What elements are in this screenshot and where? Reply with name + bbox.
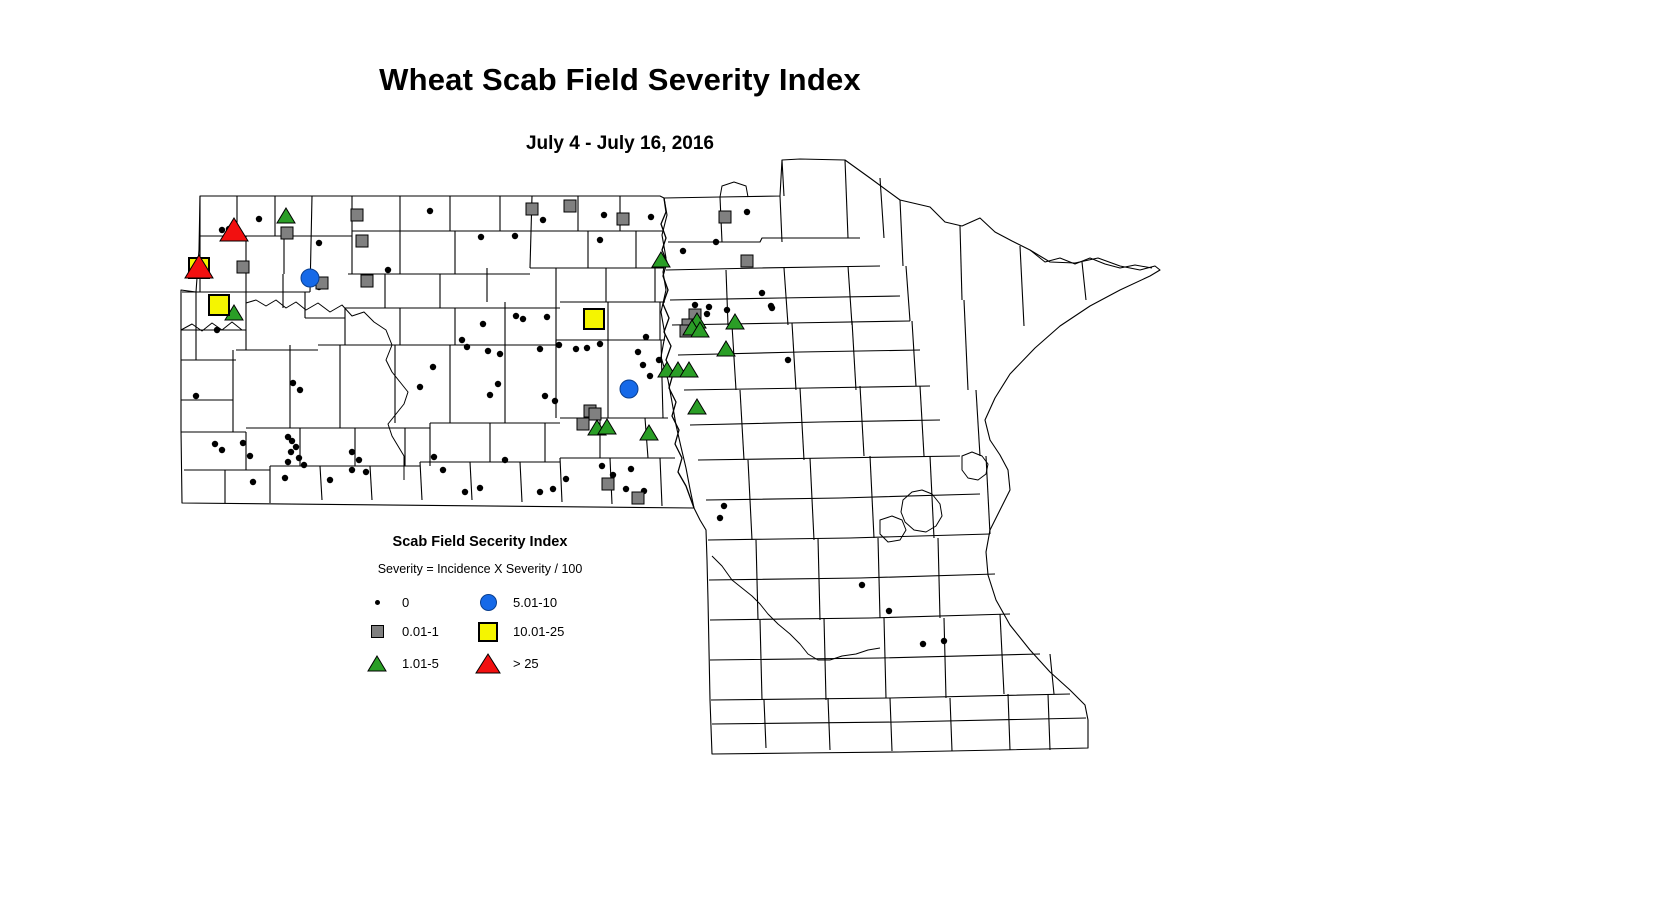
map-data-point	[285, 459, 291, 465]
map-data-point	[635, 349, 641, 355]
map-data-point	[281, 227, 293, 239]
map-data-point	[628, 466, 634, 472]
map-data-point	[597, 237, 603, 243]
map-data-point	[250, 479, 256, 485]
map-data-point	[277, 208, 295, 223]
map-data-point	[726, 314, 744, 329]
map-data-point	[520, 316, 526, 322]
map-data-point	[640, 362, 646, 368]
map-data-point	[656, 357, 662, 363]
map-data-point	[620, 380, 638, 398]
map-data-point	[692, 302, 698, 308]
map-data-point	[741, 255, 753, 267]
map-data-point	[361, 275, 373, 287]
map-data-point	[256, 216, 262, 222]
map-data-point	[540, 217, 546, 223]
map-data-point	[247, 453, 253, 459]
map-data-point	[688, 399, 706, 414]
map-data-point	[209, 295, 229, 315]
map-data-point	[652, 252, 670, 267]
map-data-point	[363, 469, 369, 475]
map-data-point	[289, 438, 295, 444]
map-data-point	[487, 392, 493, 398]
legend-label-4: 10.01-25	[513, 624, 564, 639]
map-data-point	[542, 393, 548, 399]
legend-item-0: 0	[360, 588, 409, 617]
legend-item-1: 0.01-1	[360, 617, 439, 646]
map-data-point	[431, 454, 437, 460]
map-data-point	[316, 240, 322, 246]
county-outlines	[181, 159, 1160, 754]
map-data-point	[623, 486, 629, 492]
map-data-point	[599, 463, 605, 469]
map-data-point	[713, 239, 719, 245]
map-data-point	[643, 334, 649, 340]
map-data-point	[212, 441, 218, 447]
map-data-point	[537, 489, 543, 495]
map-data-point	[417, 384, 423, 390]
red-triangle-marker-icon	[471, 653, 505, 674]
map-data-point	[296, 455, 302, 461]
map-data-point	[526, 203, 538, 215]
map-data-point	[349, 467, 355, 473]
map-data-point	[584, 309, 604, 329]
legend-label-3: 5.01-10	[513, 595, 557, 610]
map-data-point	[485, 348, 491, 354]
map-data-point	[356, 457, 362, 463]
gray-square-marker-icon	[360, 625, 394, 638]
map-data-point	[290, 380, 296, 386]
map-data-point	[680, 248, 686, 254]
map-data-point	[237, 261, 249, 273]
map-data-point	[573, 346, 579, 352]
legend-title: Scab Field Secerity Index	[345, 534, 615, 550]
legend-row: 0.01-1 10.01-25	[345, 617, 625, 646]
map-data-point	[462, 489, 468, 495]
map-data-point	[632, 492, 644, 504]
map-data-point	[564, 200, 576, 212]
map-data-point	[513, 313, 519, 319]
map-data-point	[240, 440, 246, 446]
blue-circle-marker-icon	[471, 594, 505, 611]
map-data-point	[497, 351, 503, 357]
map-data-point	[293, 444, 299, 450]
map-data-point	[769, 305, 775, 311]
map-data-point	[219, 447, 225, 453]
legend-formula: Severity = Incidence X Severity / 100	[345, 562, 615, 576]
map-data-point	[556, 342, 562, 348]
map-data-point	[478, 234, 484, 240]
legend-label-5: > 25	[513, 656, 539, 671]
state-county-map	[0, 0, 1673, 900]
map-data-point	[717, 515, 723, 521]
map-data-point	[544, 314, 550, 320]
map-data-point	[427, 208, 433, 214]
map-data-point	[349, 449, 355, 455]
map-data-point	[920, 641, 926, 647]
legend-item-2: 1.01-5	[360, 646, 439, 680]
legend-row: 0 5.01-10	[345, 588, 625, 617]
map-data-point	[617, 213, 629, 225]
legend-entries: 0 5.01-10 0.01-1	[345, 588, 625, 680]
legend-row: 1.01-5 > 25	[345, 646, 625, 680]
map-data-point	[301, 269, 319, 287]
yellow-square-marker-icon	[471, 622, 505, 642]
map-data-point	[356, 235, 368, 247]
map-data-point	[886, 608, 892, 614]
map-data-point	[602, 478, 614, 490]
map-data-point	[214, 327, 220, 333]
map-data-point	[647, 373, 653, 379]
map-data-point	[480, 321, 486, 327]
legend-label-1: 0.01-1	[402, 624, 439, 639]
map-data-point	[704, 311, 710, 317]
map-data-point	[859, 582, 865, 588]
map-data-point	[563, 476, 569, 482]
map-data-point	[719, 211, 731, 223]
map-data-point	[759, 290, 765, 296]
map-data-point	[550, 486, 556, 492]
map-data-point	[584, 345, 590, 351]
legend-label-0: 0	[402, 595, 409, 610]
legend-item-4: 10.01-25	[471, 617, 564, 646]
map-data-point	[477, 485, 483, 491]
green-triangle-marker-icon	[360, 655, 394, 672]
map-data-point	[785, 357, 791, 363]
map-data-point	[288, 449, 294, 455]
map-data-point	[219, 227, 225, 233]
map-data-point	[495, 381, 501, 387]
map-data-point	[648, 214, 654, 220]
map-data-point	[721, 503, 727, 509]
legend-label-2: 1.01-5	[402, 656, 439, 671]
map-data-point	[717, 341, 735, 356]
map-data-point	[724, 307, 730, 313]
dot-marker-icon	[360, 600, 394, 605]
map-data-point	[430, 364, 436, 370]
map-data-point	[597, 341, 603, 347]
map-data-point	[706, 304, 712, 310]
legend-item-3: 5.01-10	[471, 588, 557, 617]
map-data-point	[537, 346, 543, 352]
map-legend: Scab Field Secerity Index Severity = Inc…	[345, 534, 645, 684]
map-data-point	[440, 467, 446, 473]
map-data-point	[502, 457, 508, 463]
map-data-point	[577, 418, 589, 430]
map-data-point	[297, 387, 303, 393]
map-data-point	[552, 398, 558, 404]
map-data-point	[193, 393, 199, 399]
map-data-point	[301, 462, 307, 468]
map-data-point	[327, 477, 333, 483]
map-data-point	[459, 337, 465, 343]
map-data-point	[640, 425, 658, 440]
map-data-point	[601, 212, 607, 218]
map-data-point	[464, 344, 470, 350]
map-data-point	[589, 408, 601, 420]
map-data-point	[941, 638, 947, 644]
map-data-point	[282, 475, 288, 481]
legend-item-5: > 25	[471, 646, 539, 680]
map-data-point	[610, 472, 616, 478]
map-data-point	[351, 209, 363, 221]
map-data-point	[385, 267, 391, 273]
map-figure: Wheat Scab Field Severity Index July 4 -…	[0, 0, 1673, 900]
map-data-point	[512, 233, 518, 239]
map-data-point	[744, 209, 750, 215]
